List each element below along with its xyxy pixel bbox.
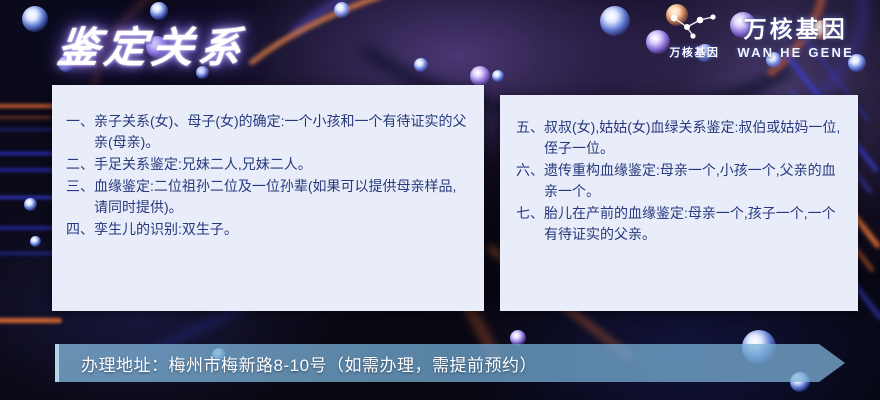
list-item-text: 血缘鉴定:二位祖孙二位及一位孙辈(如果可以提供母亲样品,请同时提供)。 <box>94 176 468 218</box>
list-item-number: 六、 <box>516 160 544 181</box>
bokeh-dot <box>30 236 41 247</box>
list-item-text: 遗传重构血缘鉴定:母亲一个,小孩一个,父亲的血亲一个。 <box>544 160 844 202</box>
address-banner-body: 办理地址：梅州市梅新路8-10号（如需办理，需提前预约） <box>55 344 845 382</box>
list-item-text: 叔叔(女),姑姑(女)血绿关系鉴定:叔伯或姑妈一位,侄子一位。 <box>544 117 844 159</box>
content-panel-right: 五、 叔叔(女),姑姑(女)血绿关系鉴定:叔伯或姑妈一位,侄子一位。 六、 遗传… <box>500 95 858 311</box>
list-item-text: 手足关系鉴定:兄妹二人,兄妹二人。 <box>94 154 468 175</box>
service-list-left: 一、 亲子关系(女)、母子(女)的确定:一个小孩和一个有待证实的父亲(母亲)。 … <box>52 85 484 240</box>
service-list-right: 五、 叔叔(女),姑姑(女)血绿关系鉴定:叔伯或姑妈一位,侄子一位。 六、 遗传… <box>500 95 858 245</box>
list-item-number: 三、 <box>66 176 94 197</box>
page-title: 鉴定关系 <box>54 14 250 75</box>
list-item-number: 五、 <box>516 117 544 138</box>
bokeh-dot <box>24 198 37 211</box>
logo-wordmark-en: WAN HE GENE <box>737 45 854 60</box>
list-item: 七、 胎儿在产前的血缘鉴定:母亲一个,孩子一个,一个有待证实的父亲。 <box>516 203 844 245</box>
list-item-number: 一、 <box>66 111 94 132</box>
list-item-text: 胎儿在产前的血缘鉴定:母亲一个,孩子一个,一个有待证实的父亲。 <box>544 203 844 245</box>
list-item-number: 七、 <box>516 203 544 224</box>
logo-mark: 万核基因 <box>667 11 721 60</box>
list-item: 五、 叔叔(女),姑姑(女)血绿关系鉴定:叔伯或姑妈一位,侄子一位。 <box>516 117 844 159</box>
address-banner: 办理地址：梅州市梅新路8-10号（如需办理，需提前预约） <box>55 344 845 382</box>
logo-wordmark-cn: 万核基因 <box>744 10 848 44</box>
list-item: 三、 血缘鉴定:二位祖孙二位及一位孙辈(如果可以提供母亲样品,请同时提供)。 <box>66 176 468 218</box>
header: 鉴定关系 <box>0 0 880 82</box>
fiber-line-orange-left-3 <box>0 318 62 323</box>
fiber-line-orange-left-2 <box>0 116 52 119</box>
list-item: 六、 遗传重构血缘鉴定:母亲一个,小孩一个,父亲的血亲一个。 <box>516 160 844 202</box>
logo-wordmark: 万核基因 WAN HE GENE <box>737 10 854 60</box>
poster-root: 鉴定关系 <box>0 0 880 400</box>
list-item-number: 二、 <box>66 154 94 175</box>
list-item-text: 孪生儿的识别:双生子。 <box>94 219 468 240</box>
address-banner-left-edge <box>55 344 59 382</box>
list-item: 一、 亲子关系(女)、母子(女)的确定:一个小孩和一个有待证实的父亲(母亲)。 <box>66 111 468 153</box>
content-panel-left: 一、 亲子关系(女)、母子(女)的确定:一个小孩和一个有待证实的父亲(母亲)。 … <box>52 85 484 311</box>
logo-mark-label: 万核基因 <box>669 44 719 60</box>
address-text: 办理地址：梅州市梅新路8-10号（如需办理，需提前预约） <box>55 351 537 376</box>
list-item: 四、 孪生儿的识别:双生子。 <box>66 219 468 240</box>
list-item: 二、 手足关系鉴定:兄妹二人,兄妹二人。 <box>66 154 468 175</box>
molecule-icon <box>667 11 721 41</box>
list-item-number: 四、 <box>66 219 94 240</box>
logo-group: 万核基因 万核基因 WAN HE GENE <box>667 10 854 60</box>
list-item-text: 亲子关系(女)、母子(女)的确定:一个小孩和一个有待证实的父亲(母亲)。 <box>94 111 468 153</box>
